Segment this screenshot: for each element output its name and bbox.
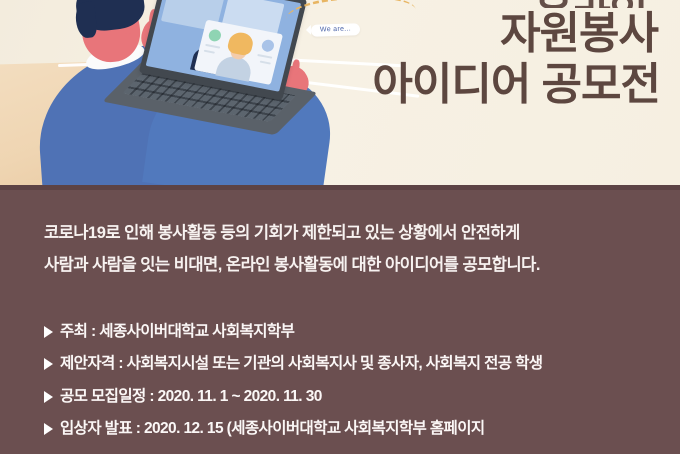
list-item-label: 공모 모집일정 : 2020. 11. 1 ~ 2020. 11. 30 [60,386,322,407]
laptop-display-shape [146,0,302,92]
hero-section: We are... 온라인, 자원봉사 아이디어 공모전 [0,0,680,185]
list-item: 주최 : 세종사이버대학교 사회복지학부 [44,321,672,342]
lead-line-1: 코로나19로 인해 봉사활동 등의 기회가 제한되고 있는 상황에서 안전하게 [44,217,650,249]
triangle-bullet-icon [44,423,53,435]
list-item-label: 입상자 발표 : 2020. 12. 15 (세종사이버대학교 사회복지학부 홈… [60,418,485,439]
list-item: 입상자 발표 : 2020. 12. 15 (세종사이버대학교 사회복지학부 홈… [44,418,672,439]
triangle-bullet-icon [44,358,53,370]
card-line-3 [257,54,272,59]
list-item-label: 주최 : 세종사이버대학교 사회복지학부 [60,321,294,342]
lead-line-2: 사람과 사람을 잇는 비대면, 온라인 봉사활동에 대한 아이디어를 공모합니다… [44,249,650,281]
list-item-label: 제안자격 : 사회복지시설 또는 기관의 사회복지사 및 종사자, 사회복지 전… [60,353,542,374]
card-line-4 [260,61,271,65]
list-item: 제안자격 : 사회복지시설 또는 기관의 사회복지사 및 종사자, 사회복지 전… [44,353,672,374]
status-dot-green-icon [208,28,223,42]
card-line-2 [204,50,215,54]
poster-title: 온라인, 자원봉사 아이디어 공모전 [372,0,658,108]
band-top-stripe [0,185,680,190]
title-cut-line: 온라인, [372,0,658,8]
bullet-list: 주최 : 세종사이버대학교 사회복지학부 제안자격 : 사회복지시설 또는 기관… [44,321,672,440]
details-section: 코로나19로 인해 봉사활동 등의 기회가 제한되고 있는 상황에서 안전하게 … [0,185,680,454]
lead-paragraph: 코로나19로 인해 봉사활동 등의 기회가 제한되고 있는 상황에서 안전하게 … [44,217,650,281]
triangle-bullet-icon [44,326,53,338]
card-line-1 [205,44,220,49]
title-line-1: 자원봉사 [372,12,658,57]
status-dot-blue-icon [261,39,276,53]
title-line-2: 아이디어 공모전 [372,63,660,108]
list-item: 공모 모집일정 : 2020. 11. 1 ~ 2020. 11. 30 [44,386,672,407]
poster-root: We are... 온라인, 자원봉사 아이디어 공모전 코로나19로 인해 봉… [0,0,680,454]
triangle-bullet-icon [44,391,53,403]
speech-bubble: We are... [311,23,360,37]
